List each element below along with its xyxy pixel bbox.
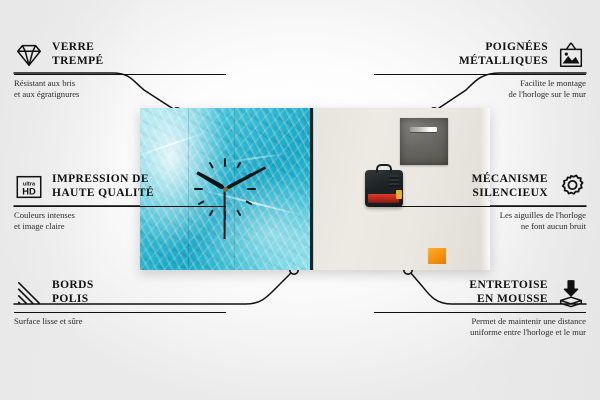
feature-title-line1: BORDS — [52, 279, 94, 293]
gear-icon — [556, 172, 586, 202]
feature-entretoise-en-mousse: ENTRETOISE EN MOUSSE Permet de maintenir… — [374, 278, 586, 338]
feature-desc-line2: uniforme entre l'horloge et le mur — [374, 327, 586, 338]
feature-desc-line2: de l'horloge sur le mur — [374, 89, 586, 100]
feature-poignees-metalliques: POIGNÉES MÉTALLIQUES Facilite le montage… — [374, 40, 586, 100]
feature-desc-line1: Facilite le montage — [374, 78, 586, 89]
feature-bords-polis: BORDS POLIS Surface lisse et sûre — [14, 278, 226, 327]
infographic-canvas: VERRE TREMPÉ Résistant aux bris et aux é… — [0, 0, 600, 400]
feature-title-line1: MÉCANISME — [472, 173, 548, 187]
diamond-icon — [14, 40, 44, 70]
feature-title-line1: ENTRETOISE — [469, 279, 548, 293]
hanger-slot — [410, 127, 437, 132]
feature-title-line1: VERRE — [52, 41, 104, 55]
feature-desc-line2: ne font aucun bruit — [374, 221, 586, 232]
picture-hanger-icon — [556, 40, 586, 70]
feature-title-line1: IMPRESSION DE — [52, 173, 154, 187]
feature-rule — [374, 206, 586, 207]
feature-desc-line1: Couleurs intenses — [14, 210, 226, 221]
feature-title-line2: SILENCIEUX — [472, 187, 548, 201]
feature-title-line2: HAUTE QUALITÉ — [52, 187, 154, 201]
feature-title-line2: TREMPÉ — [52, 55, 104, 69]
feature-title-line2: POLIS — [52, 293, 94, 307]
foam-spacer — [428, 248, 446, 264]
feature-desc-line2: et aux égratignures — [14, 89, 226, 100]
feature-mecanisme-silencieux: MÉCANISME SILENCIEUX Les aiguilles de l'… — [374, 172, 586, 232]
feature-title-line2: MÉTALLIQUES — [459, 55, 548, 69]
feature-rule — [14, 74, 226, 75]
feature-rule — [14, 206, 226, 207]
feature-verre-trempe: VERRE TREMPÉ Résistant aux bris et aux é… — [14, 40, 226, 100]
feature-desc-line1: Permet de maintenir une distance — [374, 316, 586, 327]
feature-rule — [374, 74, 586, 75]
svg-text:HD: HD — [22, 187, 36, 197]
ultra-hd-icon: ultra HD — [14, 172, 44, 202]
feature-rule — [14, 312, 226, 313]
feature-desc-line1: Surface lisse et sûre — [14, 316, 226, 327]
feature-impression-haute-qualite: ultra HD IMPRESSION DE HAUTE QUALITÉ Cou… — [14, 172, 226, 232]
feature-title-line2: EN MOUSSE — [469, 293, 548, 307]
feature-title-line1: POIGNÉES — [459, 41, 548, 55]
feature-desc-line2: et image claire — [14, 221, 226, 232]
polished-edge-icon — [14, 278, 44, 308]
metal-hanger-plate — [400, 118, 448, 165]
feature-desc-line1: Résistant aux bris — [14, 78, 226, 89]
feature-rule — [374, 312, 586, 313]
foam-spacer-icon — [556, 278, 586, 308]
feature-desc-line1: Les aiguilles de l'horloge — [374, 210, 586, 221]
